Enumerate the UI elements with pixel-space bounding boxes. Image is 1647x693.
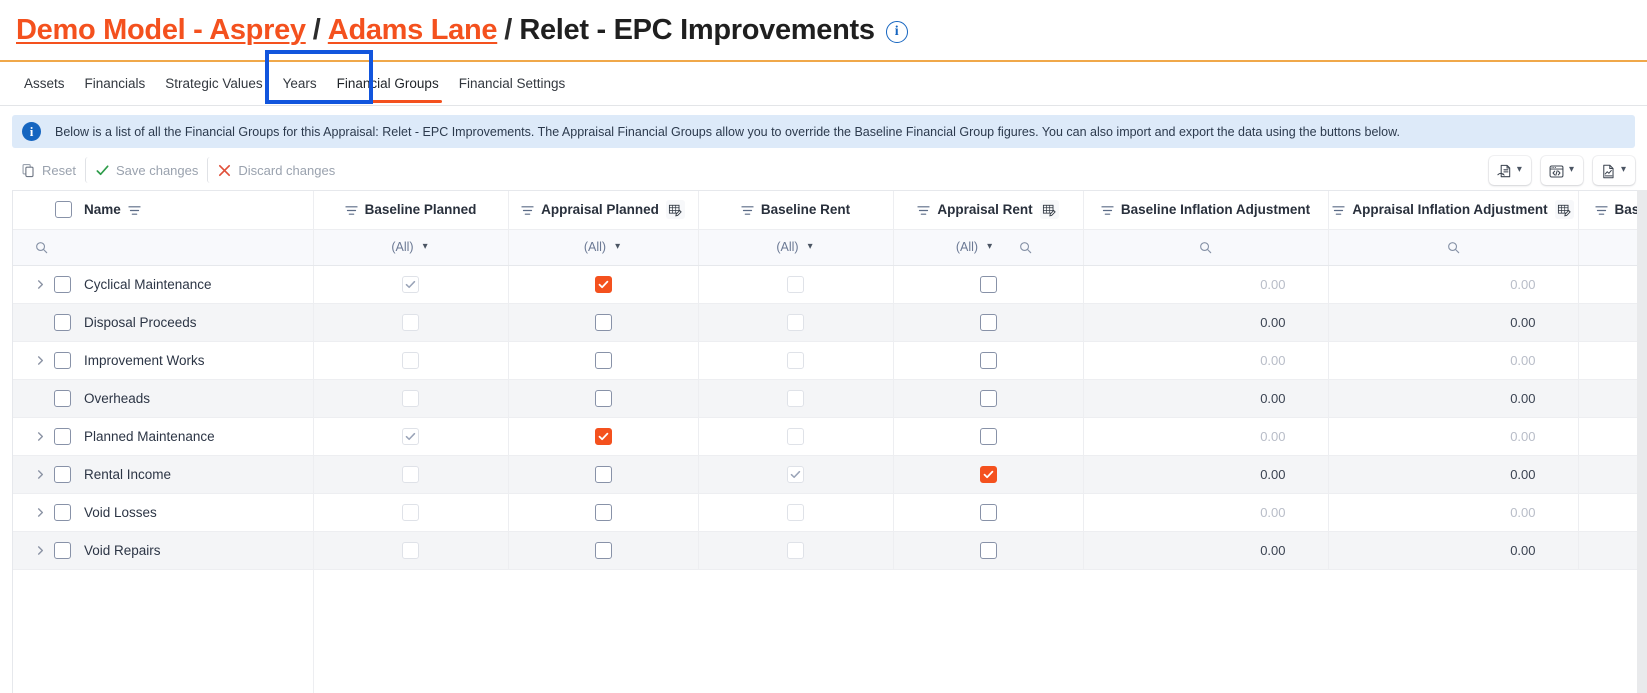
row-select-checkbox[interactable] [54,428,71,445]
cell-baseline-real-adjustment [1578,341,1637,379]
tab-strategic-values[interactable]: Strategic Values [155,62,272,105]
baseline-planned-checkbox [402,428,419,445]
row-select-checkbox[interactable] [54,466,71,483]
column-label: Appraisal Planned [541,202,659,217]
filter-cell-appraisal-planned[interactable]: (All) ▾ [508,229,698,265]
appraisal-inflation-value[interactable]: 0.00 [1329,418,1578,455]
document-export-icon [1600,163,1615,178]
tab-label: Strategic Values [165,76,262,91]
cell-baseline-rent [698,303,893,341]
appraisal-rent-checkbox[interactable] [980,314,997,331]
baseline-real-value [1579,532,1638,569]
baseline-real-value [1579,380,1638,417]
cell-baseline-rent [698,531,893,569]
baseline-planned-checkbox [402,352,419,369]
filter-cell-baseline-real-adjustment[interactable] [1578,229,1637,265]
row-name-label: Rental Income [84,467,171,482]
appraisal-rent-checkbox[interactable] [980,504,997,521]
cell-baseline-inflation-adjustment: 0.00 [1083,493,1328,531]
chevron-down-icon: ▾ [1567,165,1576,175]
chevron-down-icon: ▾ [1515,165,1524,175]
cell-name[interactable]: Disposal Proceeds [13,303,313,341]
cell-baseline-real-adjustment [1578,531,1637,569]
code-window-icon [1548,163,1563,178]
baseline-planned-checkbox [402,390,419,407]
app-root: Demo Model - Asprey / Adams Lane / Relet… [0,0,1647,693]
appraisal-inflation-value[interactable]: 0.00 [1329,342,1578,379]
check-icon [95,163,110,178]
tab-financials[interactable]: Financials [75,62,156,105]
cell-appraisal-rent[interactable] [893,531,1083,569]
cell-baseline-real-adjustment [1578,455,1637,493]
appraisal-inflation-value[interactable]: 0.00 [1329,266,1578,303]
tab-assets[interactable]: Assets [14,62,75,105]
expand-row-chevron-icon[interactable] [31,465,49,483]
column-label: Baseline Planned [365,202,477,217]
cell-baseline-rent [698,265,893,303]
cell-appraisal-inflation-adjustment[interactable]: 0.00 [1328,379,1578,417]
appraisal-planned-checkbox[interactable] [595,314,612,331]
row-name-label: Planned Maintenance [84,429,215,444]
edit-grid-icon[interactable] [1555,200,1574,219]
financial-groups-grid: Name Baseline Planned [12,190,1637,693]
baseline-rent-checkbox [787,466,804,483]
baseline-planned-checkbox [402,314,419,331]
action-toolbar: Reset Save changes Discard changes [12,148,1635,192]
table-row[interactable]: Disposal Proceeds0.000.00 [13,303,1637,341]
cell-appraisal-rent[interactable] [893,455,1083,493]
cell-baseline-inflation-adjustment: 0.00 [1083,379,1328,417]
filter-cell-name[interactable] [13,229,313,265]
baseline-real-value [1579,304,1638,341]
info-banner-text: Below is a list of all the Financial Gro… [55,125,1400,139]
cell-appraisal-rent[interactable] [893,417,1083,455]
reset-label: Reset [42,163,76,178]
appraisal-planned-checkbox[interactable] [595,466,612,483]
breadcrumb: Demo Model - Asprey / Adams Lane / Relet… [0,0,1647,62]
cell-appraisal-rent[interactable] [893,341,1083,379]
column-label: Appraisal Inflation Adjustment [1352,202,1547,217]
chevron-down-icon: ▾ [1619,165,1628,175]
cell-appraisal-planned[interactable] [508,455,698,493]
grid-table: Name Baseline Planned [13,191,1637,693]
appraisal-planned-checkbox[interactable] [595,428,612,445]
cell-name[interactable]: Void Repairs [13,531,313,569]
import-export-icon [1496,163,1511,178]
filter-icon[interactable] [1332,204,1345,215]
appraisal-rent-checkbox[interactable] [980,390,997,407]
edit-grid-icon[interactable] [1040,200,1059,219]
cell-appraisal-inflation-adjustment[interactable]: 0.00 [1328,493,1578,531]
breadcrumb-separator-2: / [504,14,512,47]
column-label: Baseline Inflation Adjustment [1121,202,1310,217]
page-background-right [1637,190,1647,693]
row-select-checkbox[interactable] [54,352,71,369]
column-header-name[interactable]: Name [13,191,313,229]
appraisal-rent-checkbox[interactable] [980,276,997,293]
table-row[interactable]: Cyclical Maintenance0.000.00 [13,265,1637,303]
cell-name[interactable]: Void Losses [13,493,313,531]
baseline-real-value [1579,418,1638,455]
search-icon[interactable] [1019,241,1032,254]
grid-header: Name Baseline Planned [13,191,1637,265]
filter-icon[interactable] [1595,204,1608,215]
tab-label: Years [283,76,317,91]
cell-baseline-rent [698,417,893,455]
cell-baseline-real-adjustment [1578,379,1637,417]
baseline-planned-checkbox [402,276,419,293]
appraisal-planned-checkbox[interactable] [595,542,612,559]
column-header-appraisal-inflation-adjustment[interactable]: Appraisal Inflation Adjustment [1328,191,1578,229]
cell-baseline-planned [313,531,508,569]
column-label: Appraisal Rent [937,202,1032,217]
table-row[interactable]: Planned Maintenance0.000.00 [13,417,1637,455]
grid-empty-space [13,569,1637,693]
cell-appraisal-planned[interactable] [508,379,698,417]
cell-name[interactable]: Overheads [13,379,313,417]
cell-baseline-planned [313,379,508,417]
export-import-group: ▾ ▾ [1489,156,1635,185]
chevron-down-icon[interactable]: ▾ [985,242,994,252]
save-changes-label: Save changes [116,163,198,178]
info-banner: i Below is a list of all the Financial G… [12,115,1635,148]
column-label: Baseline Rent [761,202,850,217]
tab-label: Financials [85,76,146,91]
cell-name[interactable]: Rental Income [13,455,313,493]
chevron-down-icon[interactable]: ▾ [421,242,430,252]
cell-baseline-planned [313,455,508,493]
reset-button[interactable]: Reset [12,157,85,183]
cell-appraisal-inflation-adjustment[interactable]: 0.00 [1328,531,1578,569]
filter-icon[interactable] [128,204,141,215]
row-name-label: Void Repairs [84,543,161,558]
cell-baseline-planned [313,265,508,303]
appraisal-rent-checkbox[interactable] [980,466,997,483]
baseline-rent-checkbox [787,276,804,293]
column-header-appraisal-rent[interactable]: Appraisal Rent [893,191,1083,229]
close-icon [217,163,232,178]
tab-bar: Assets Financials Strategic Values Years… [0,62,1647,106]
table-row[interactable]: Overheads0.000.00 [13,379,1637,417]
cell-name[interactable]: Planned Maintenance [13,417,313,455]
cell-baseline-inflation-adjustment: 0.00 [1083,341,1328,379]
cell-baseline-inflation-adjustment: 0.00 [1083,303,1328,341]
filter-value: (All) [956,240,978,254]
baseline-rent-checkbox [787,314,804,331]
baseline-inflation-value: 0.00 [1084,494,1328,531]
filter-value: (All) [391,240,413,254]
edit-grid-icon[interactable] [666,200,685,219]
table-row[interactable]: Void Losses0.000.00 [13,493,1637,531]
row-name-label: Overheads [84,391,150,406]
cell-baseline-planned [313,341,508,379]
filter-cell-baseline-rent[interactable]: (All) ▾ [698,229,893,265]
row-name-label: Cyclical Maintenance [84,277,212,292]
column-header-baseline-rent[interactable]: Baseline Rent [698,191,893,229]
breadcrumb-scheme-link[interactable]: Adams Lane [328,14,497,47]
breadcrumb-model-link[interactable]: Demo Model - Asprey [16,14,306,47]
baseline-real-value [1579,494,1638,531]
tab-financial-groups[interactable]: Financial Groups [327,62,449,105]
appraisal-inflation-value[interactable]: 0.00 [1329,380,1578,417]
baseline-rent-checkbox [787,352,804,369]
import-export-dropdown-button[interactable]: ▾ [1489,156,1531,185]
row-select-checkbox[interactable] [54,276,71,293]
tab-label: Financial Settings [459,76,566,91]
filter-cell-baseline-planned[interactable]: (All) ▾ [313,229,508,265]
cell-appraisal-rent[interactable] [893,303,1083,341]
filter-value: (All) [776,240,798,254]
info-icon: i [22,122,41,141]
table-row[interactable]: Improvement Works0.000.00 [13,341,1637,379]
row-name-label: Improvement Works [84,353,205,368]
cell-appraisal-inflation-adjustment[interactable]: 0.00 [1328,417,1578,455]
baseline-planned-checkbox [402,542,419,559]
expand-row-chevron-icon[interactable] [31,275,49,293]
baseline-real-value [1579,266,1638,303]
row-select-checkbox[interactable] [54,542,71,559]
appraisal-planned-checkbox[interactable] [595,352,612,369]
filter-cell-baseline-inflation-adjustment[interactable] [1083,229,1328,265]
tab-label: Assets [24,76,65,91]
filter-icon[interactable] [917,204,930,215]
baseline-planned-checkbox [402,504,419,521]
cell-baseline-planned [313,493,508,531]
cell-baseline-planned [313,303,508,341]
cell-baseline-inflation-adjustment: 0.00 [1083,265,1328,303]
cell-appraisal-rent[interactable] [893,265,1083,303]
appraisal-inflation-value[interactable]: 0.00 [1329,304,1578,341]
cell-appraisal-planned[interactable] [508,265,698,303]
cell-appraisal-planned[interactable] [508,531,698,569]
baseline-inflation-value: 0.00 [1084,304,1328,341]
cell-baseline-rent [698,341,893,379]
cell-appraisal-inflation-adjustment[interactable]: 0.00 [1328,265,1578,303]
baseline-inflation-value: 0.00 [1084,342,1328,379]
cell-baseline-inflation-adjustment: 0.00 [1083,455,1328,493]
grid-header-row: Name Baseline Planned [13,191,1637,229]
cell-baseline-inflation-adjustment: 0.00 [1083,417,1328,455]
cell-name[interactable]: Improvement Works [13,341,313,379]
cell-baseline-planned [313,417,508,455]
row-select-checkbox[interactable] [54,314,71,331]
table-row[interactable]: Rental Income0.000.00 [13,455,1637,493]
appraisal-rent-checkbox[interactable] [980,352,997,369]
code-export-dropdown-button[interactable]: ▾ [1541,156,1583,185]
appraisal-planned-checkbox[interactable] [595,504,612,521]
row-name-label: Disposal Proceeds [84,315,197,330]
column-header-baseline-inflation-adjustment[interactable]: Baseline Inflation Adjustment [1083,191,1328,229]
grid-left-margin [0,190,12,693]
cell-appraisal-planned[interactable] [508,493,698,531]
baseline-rent-checkbox [787,428,804,445]
tab-label: Financial Groups [337,76,439,91]
filter-cell-appraisal-inflation-adjustment[interactable] [1328,229,1578,265]
appraisal-inflation-value[interactable]: 0.00 [1329,456,1578,493]
appraisal-rent-checkbox[interactable] [980,542,997,559]
baseline-inflation-value: 0.00 [1084,266,1328,303]
cell-appraisal-rent[interactable] [893,379,1083,417]
cell-baseline-real-adjustment [1578,493,1637,531]
filter-icon[interactable] [345,204,358,215]
search-icon[interactable] [35,241,48,254]
expand-row-chevron-icon[interactable] [31,351,49,369]
save-changes-button[interactable]: Save changes [85,157,207,183]
column-header-baseline-real-adjustment[interactable]: Baseline Real A [1578,191,1637,229]
appraisal-inflation-value[interactable]: 0.00 [1329,532,1578,569]
select-all-checkbox[interactable] [55,201,72,218]
edit-actions-group: Reset Save changes Discard changes [12,157,344,183]
appraisal-planned-checkbox[interactable] [595,276,612,293]
baseline-inflation-value: 0.00 [1084,532,1328,569]
row-select-checkbox[interactable] [54,390,71,407]
cell-appraisal-planned[interactable] [508,341,698,379]
document-export-dropdown-button[interactable]: ▾ [1593,156,1635,185]
baseline-real-value [1579,456,1638,493]
cell-appraisal-rent[interactable] [893,493,1083,531]
cell-name[interactable]: Cyclical Maintenance [13,265,313,303]
cell-baseline-real-adjustment [1578,303,1637,341]
search-icon[interactable] [1447,241,1460,254]
expand-row-chevron-icon[interactable] [31,427,49,445]
cell-appraisal-inflation-adjustment[interactable]: 0.00 [1328,455,1578,493]
info-icon[interactable]: i [886,21,908,43]
cell-baseline-rent [698,493,893,531]
cell-baseline-real-adjustment [1578,265,1637,303]
baseline-inflation-value: 0.00 [1084,380,1328,417]
baseline-rent-checkbox [787,390,804,407]
expand-row-chevron-icon[interactable] [31,503,49,521]
appraisal-planned-checkbox[interactable] [595,390,612,407]
chevron-down-icon[interactable]: ▾ [806,242,815,252]
baseline-real-value [1579,342,1638,379]
cell-appraisal-inflation-adjustment[interactable]: 0.00 [1328,341,1578,379]
filter-value: (All) [584,240,606,254]
cell-baseline-real-adjustment [1578,417,1637,455]
grid-filter-row: (All) ▾ (All) ▾ (All) ▾ [13,229,1637,265]
cell-baseline-inflation-adjustment: 0.00 [1083,531,1328,569]
baseline-inflation-value: 0.00 [1084,418,1328,455]
table-row[interactable]: Void Repairs0.000.00 [13,531,1637,569]
appraisal-rent-checkbox[interactable] [980,428,997,445]
breadcrumb-separator-1: / [313,14,321,47]
column-label: Name [84,202,121,217]
grid-body: Cyclical Maintenance0.000.00Disposal Pro… [13,265,1637,693]
baseline-rent-checkbox [787,542,804,559]
discard-changes-label: Discard changes [238,163,335,178]
cell-baseline-rent [698,455,893,493]
filter-icon[interactable] [741,204,754,215]
baseline-rent-checkbox [787,504,804,521]
column-header-appraisal-planned[interactable]: Appraisal Planned [508,191,698,229]
chevron-down-icon[interactable]: ▾ [613,242,622,252]
row-select-checkbox[interactable] [54,504,71,521]
baseline-inflation-value: 0.00 [1084,456,1328,493]
cell-baseline-rent [698,379,893,417]
row-name-label: Void Losses [84,505,157,520]
filter-cell-appraisal-rent[interactable]: (All) ▾ [893,229,1083,265]
copy-icon [21,163,36,178]
column-label: Baseline Real A [1615,202,1638,217]
discard-changes-button[interactable]: Discard changes [207,157,344,183]
cell-appraisal-planned[interactable] [508,417,698,455]
column-header-baseline-planned[interactable]: Baseline Planned [313,191,508,229]
tab-financial-settings[interactable]: Financial Settings [449,62,576,105]
cell-appraisal-inflation-adjustment[interactable]: 0.00 [1328,303,1578,341]
search-icon[interactable] [1199,241,1212,254]
tab-years[interactable]: Years [273,62,327,105]
cell-appraisal-planned[interactable] [508,303,698,341]
page-title: Relet - EPC Improvements [519,14,874,47]
filter-icon[interactable] [1101,204,1114,215]
baseline-planned-checkbox [402,466,419,483]
expand-row-chevron-icon[interactable] [31,541,49,559]
appraisal-inflation-value[interactable]: 0.00 [1329,494,1578,531]
filter-icon[interactable] [521,204,534,215]
